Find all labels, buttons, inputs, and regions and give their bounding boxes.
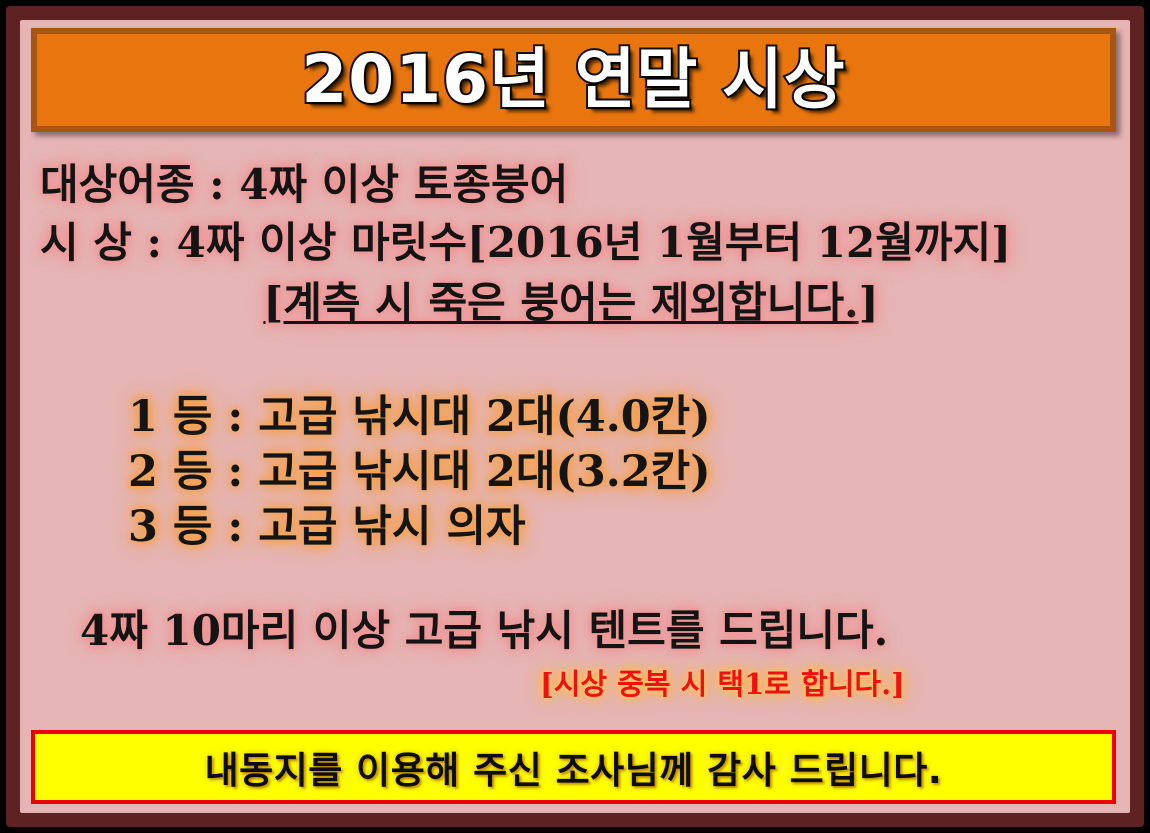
target-species-line: 대상어종 : 4짜 이상 토종붕어 <box>40 164 568 206</box>
measurement-condition-underlined: [계측 시 죽은 붕어는 제외합니다. <box>263 278 858 327</box>
bonus-prize-line: 4짜 10마리 이상 고급 낚시 텐트를 드립니다. <box>80 610 888 652</box>
prize-second-place: 2 등 : 고급 낚시대 2대(3.2칸) <box>128 451 711 494</box>
page-title: 2016년 연말 시상 <box>301 47 845 113</box>
poster-page: 2016년 연말 시상 대상어종 : 4짜 이상 토종붕어 시 상 : 4짜 이… <box>20 20 1130 813</box>
footer-banner: 내동지를 이용해 주신 조사님께 감사 드립니다. <box>31 730 1116 804</box>
prize-first-place: 1 등 : 고급 낚시대 2대(4.0칸) <box>128 396 711 439</box>
thank-you-message: 내동지를 이용해 주신 조사님께 감사 드립니다. <box>205 740 943 794</box>
poster-outer-frame: 2016년 연말 시상 대상어종 : 4짜 이상 토종붕어 시 상 : 4짜 이… <box>6 6 1144 827</box>
award-criteria-line: 시 상 : 4짜 이상 마릿수[2016년 1월부터 12월까지] <box>40 222 1011 264</box>
measurement-condition-line: [계측 시 죽은 붕어는 제외합니다.] <box>20 282 1122 324</box>
measurement-condition-tail: ] <box>859 278 879 327</box>
title-banner: 2016년 연말 시상 <box>31 28 1116 132</box>
duplicate-award-note: [시상 중복 시 택1로 합니다.] <box>540 670 905 699</box>
prize-third-place: 3 등 : 고급 낚시 의자 <box>128 506 526 549</box>
poster-root: 2016년 연말 시상 대상어종 : 4짜 이상 토종붕어 시 상 : 4짜 이… <box>0 0 1150 833</box>
